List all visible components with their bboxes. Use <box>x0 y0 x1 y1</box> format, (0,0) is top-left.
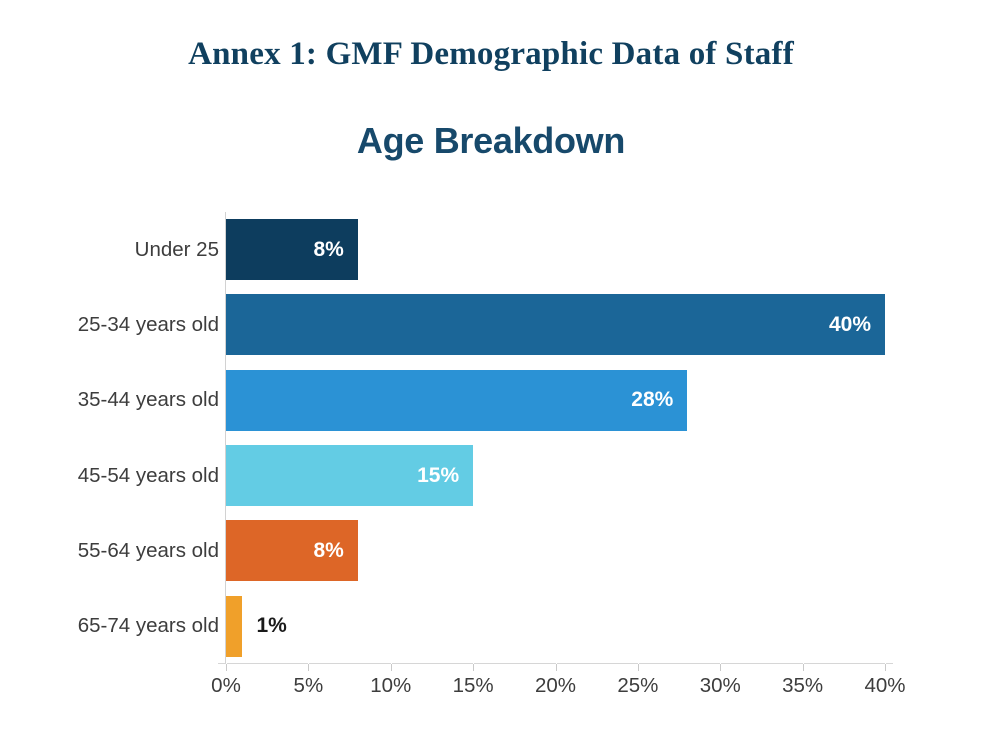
x-axis-tick <box>308 664 309 671</box>
bar[interactable]: 28% <box>226 370 687 431</box>
bar-value-label: 8% <box>313 238 357 262</box>
x-tick-label: 0% <box>211 674 241 698</box>
x-axis-tick <box>391 664 392 671</box>
x-tick-label: 35% <box>782 674 823 698</box>
bar-row[interactable]: 8% <box>226 212 885 287</box>
x-tick-label: 25% <box>617 674 658 698</box>
bar[interactable]: 1% <box>226 596 242 657</box>
age-breakdown-bar-chart: 8%40%28%15%8%1% Under 2525-34 years old3… <box>0 200 982 710</box>
plot-area: 8%40%28%15%8%1% <box>226 212 885 664</box>
bar-row-inner: 40% <box>226 287 885 362</box>
slide-canvas: Annex 1: GMF Demographic Data of Staff A… <box>0 0 982 735</box>
bar-row[interactable]: 1% <box>226 589 885 664</box>
bar-row-inner: 8% <box>226 212 885 287</box>
x-tick-label: 30% <box>700 674 741 698</box>
category-label: 65-74 years old <box>78 614 219 638</box>
bar-row-inner: 8% <box>226 513 885 588</box>
x-axis-tick <box>226 664 227 671</box>
category-label: 55-64 years old <box>78 539 219 563</box>
x-axis-tick <box>556 664 557 671</box>
category-label: 25-34 years old <box>78 313 219 337</box>
bar[interactable]: 40% <box>226 294 885 355</box>
bar-row[interactable]: 28% <box>226 363 885 438</box>
gridline <box>885 212 886 664</box>
x-axis-tick <box>720 664 721 671</box>
bar-row[interactable]: 40% <box>226 287 885 362</box>
x-tick-label: 40% <box>864 674 905 698</box>
category-label: 45-54 years old <box>78 464 219 488</box>
bar-value-label: 28% <box>631 388 687 412</box>
bar[interactable]: 15% <box>226 445 473 506</box>
x-tick-label: 5% <box>294 674 324 698</box>
bar-row-inner: 15% <box>226 438 885 513</box>
bar-value-label: 40% <box>829 313 885 337</box>
x-tick-label: 10% <box>370 674 411 698</box>
x-axis-tick <box>473 664 474 671</box>
x-axis-tick <box>885 664 886 671</box>
x-axis-tick <box>638 664 639 671</box>
x-tick-label: 20% <box>535 674 576 698</box>
category-label: 35-44 years old <box>78 388 219 412</box>
chart-title: Age Breakdown <box>0 120 982 162</box>
bar-row-inner: 1% <box>226 589 885 664</box>
bar-value-label: 1% <box>242 614 286 638</box>
x-tick-label: 15% <box>453 674 494 698</box>
bar[interactable]: 8% <box>226 520 358 581</box>
bar-row-inner: 28% <box>226 363 885 438</box>
x-axis-tick <box>803 664 804 671</box>
bar-value-label: 15% <box>417 464 473 488</box>
category-label: Under 25 <box>135 238 219 262</box>
bar-value-label: 8% <box>313 539 357 563</box>
page-title: Annex 1: GMF Demographic Data of Staff <box>0 36 982 73</box>
bar-row[interactable]: 15% <box>226 438 885 513</box>
bar-row[interactable]: 8% <box>226 513 885 588</box>
bar[interactable]: 8% <box>226 219 358 280</box>
